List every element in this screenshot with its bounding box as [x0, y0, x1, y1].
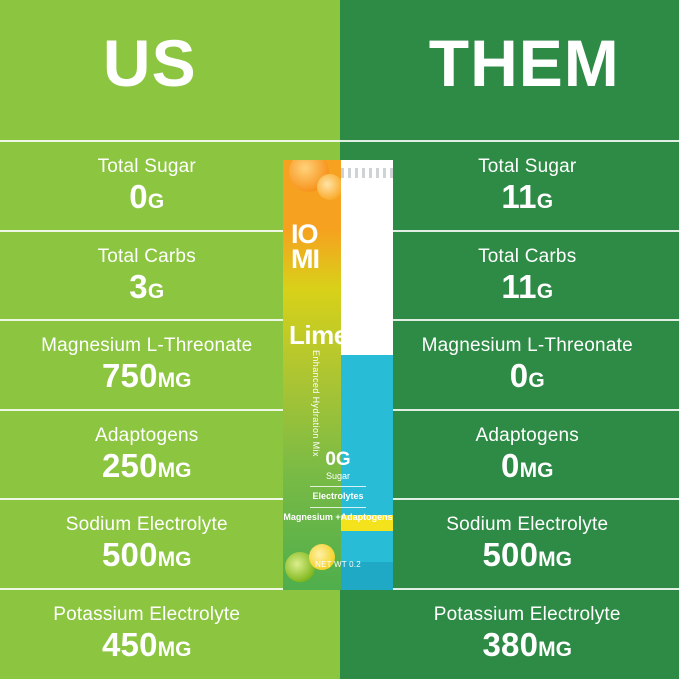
- row-label: Adaptogens: [476, 425, 579, 447]
- brand-logo-line2: MI: [291, 247, 337, 272]
- row-value: 250MG: [102, 449, 192, 484]
- row-value: 750MG: [102, 359, 192, 394]
- packet-front-panel: IO MI Lime Enhanced Hydration Mix: [283, 160, 341, 590]
- table-row: Potassium Electrolyte 380MG: [340, 588, 679, 678]
- packet-claim-sugar-label: Sugar: [283, 471, 393, 482]
- row-value: 450MG: [102, 628, 192, 663]
- row-label: Potassium Electrolyte: [434, 604, 621, 626]
- row-value-number: 500: [102, 536, 158, 573]
- row-label: Total Sugar: [98, 156, 196, 178]
- packet-tear-notch: [341, 168, 393, 178]
- row-value-unit: MG: [158, 548, 192, 571]
- row-label: Sodium Electrolyte: [446, 514, 608, 536]
- packet-net-weight: NET WT 0.2: [283, 560, 393, 569]
- product-packet-image: IO MI Lime Enhanced Hydration Mix 0G Sug…: [283, 160, 393, 590]
- row-value: 500MG: [102, 538, 192, 573]
- row-value-unit: G: [537, 280, 553, 303]
- packet-clip: IO MI Lime Enhanced Hydration Mix 0G Sug…: [283, 160, 393, 590]
- orange-slice-icon: [317, 174, 341, 200]
- row-value-number: 11: [501, 268, 536, 305]
- row-value: 0MG: [501, 449, 553, 484]
- table-row: Potassium Electrolyte 450MG: [0, 588, 340, 678]
- row-value-unit: MG: [538, 548, 572, 571]
- row-value: 380MG: [483, 628, 573, 663]
- row-value-number: 500: [483, 536, 539, 573]
- row-value-number: 0: [501, 447, 520, 484]
- row-value-number: 3: [129, 268, 148, 305]
- packet-claim-electrolytes: Electrolytes: [283, 491, 393, 503]
- packet-claims: 0G Sugar Electrolytes Magnesium +Adaptog…: [283, 450, 393, 524]
- row-value: 0G: [510, 359, 545, 394]
- row-label: Magnesium L-Threonate: [41, 335, 252, 357]
- row-value: 11G: [501, 270, 553, 305]
- row-label: Magnesium L-Threonate: [422, 335, 633, 357]
- row-value: 500MG: [483, 538, 573, 573]
- row-value-number: 750: [102, 357, 158, 394]
- brand-logo: IO MI: [291, 222, 337, 272]
- row-value-unit: G: [148, 190, 164, 213]
- row-value-number: 450: [102, 626, 158, 663]
- packet-divider: [310, 507, 366, 508]
- row-value-number: 0: [129, 178, 148, 215]
- row-value-unit: G: [148, 280, 164, 303]
- row-label: Total Sugar: [478, 156, 576, 178]
- packet-claim-sugar: 0G: [283, 450, 393, 470]
- row-value-number: 0: [510, 357, 529, 394]
- packet-divider: [310, 486, 366, 487]
- row-value-unit: MG: [520, 459, 554, 482]
- packet-vertical-text: Enhanced Hydration Mix: [311, 350, 321, 457]
- row-label: Total Carbs: [478, 246, 576, 268]
- row-label: Sodium Electrolyte: [66, 514, 228, 536]
- packet-claim-magnesium: Magnesium +Adaptogens: [283, 512, 393, 524]
- row-value-unit: MG: [158, 638, 192, 661]
- row-value-unit: MG: [158, 369, 192, 392]
- row-value: 3G: [129, 270, 164, 305]
- row-value-unit: MG: [538, 638, 572, 661]
- row-value-unit: G: [537, 190, 553, 213]
- packet-flavor-label: Lime: [289, 320, 341, 351]
- row-value-number: 250: [102, 447, 158, 484]
- column-them-title: THEM: [340, 30, 679, 96]
- comparison-chart: US Total Sugar 0G Total Carbs 3G Magnesi…: [0, 0, 679, 679]
- row-value-unit: MG: [158, 459, 192, 482]
- row-label: Potassium Electrolyte: [53, 604, 240, 626]
- column-us-title: US: [0, 30, 340, 96]
- row-label: Adaptogens: [95, 425, 198, 447]
- row-value-number: 380: [483, 626, 539, 663]
- row-value: 0G: [129, 180, 164, 215]
- row-label: Total Carbs: [98, 246, 196, 268]
- row-value: 11G: [501, 180, 553, 215]
- packet-back-panel: [341, 160, 393, 590]
- row-value-unit: G: [528, 369, 544, 392]
- row-value-number: 11: [501, 178, 536, 215]
